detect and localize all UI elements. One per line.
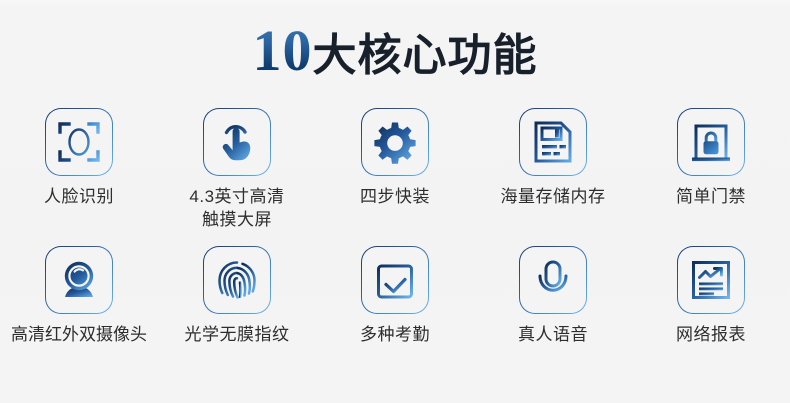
feature-item-access-control[interactable]: 简单门禁	[632, 108, 790, 209]
chart-report-icon	[688, 257, 734, 303]
feature-label: 网络报表	[676, 324, 746, 347]
fingerprint-icon	[214, 257, 260, 303]
feature-tile	[677, 246, 745, 314]
page-title-number: 10	[253, 18, 313, 83]
feature-label: 4.3英寸高清 触摸大屏	[189, 186, 284, 232]
webcam-camera-icon	[56, 257, 102, 303]
feature-tile	[361, 108, 429, 176]
feature-label: 简单门禁	[676, 186, 746, 209]
feature-row-2: 高清红外双摄像头	[0, 246, 790, 347]
feature-tile	[519, 108, 587, 176]
feature-item-report[interactable]: 网络报表	[632, 246, 790, 347]
feature-tile	[677, 108, 745, 176]
feature-highlights-page: 10大核心功能	[0, 0, 790, 403]
feature-item-face-recognition[interactable]: 人脸识别	[0, 108, 158, 209]
feature-tile	[203, 108, 271, 176]
feature-tile	[519, 246, 587, 314]
feature-tile	[361, 246, 429, 314]
feature-item-storage[interactable]: 海量存储内存	[474, 108, 632, 209]
calendar-check-icon	[372, 257, 418, 303]
feature-tile	[203, 246, 271, 314]
touch-hand-icon	[214, 119, 260, 165]
floppy-disk-storage-icon	[531, 119, 575, 165]
feature-row-1: 人脸识别	[0, 108, 790, 232]
feature-label: 海量存储内存	[501, 186, 606, 209]
gear-icon	[372, 119, 418, 165]
feature-item-touch-screen[interactable]: 4.3英寸高清 触摸大屏	[158, 108, 316, 232]
face-recognition-icon	[56, 119, 102, 165]
feature-tile	[45, 108, 113, 176]
microphone-icon	[530, 257, 576, 303]
door-lock-icon	[688, 119, 734, 165]
feature-item-fingerprint[interactable]: 光学无膜指纹	[158, 246, 316, 347]
feature-item-attendance[interactable]: 多种考勤	[316, 246, 474, 347]
feature-item-quick-install[interactable]: 四步快装	[316, 108, 474, 209]
feature-label: 多种考勤	[360, 324, 430, 347]
feature-grid: 人脸识别	[0, 108, 790, 347]
feature-label: 真人语音	[518, 324, 588, 347]
feature-label: 四步快装	[360, 186, 430, 209]
feature-item-camera[interactable]: 高清红外双摄像头	[0, 246, 158, 347]
feature-tile	[45, 246, 113, 314]
page-title-text: 大核心功能	[313, 31, 538, 80]
page-title: 10大核心功能	[0, 22, 790, 80]
feature-label: 高清红外双摄像头	[11, 324, 147, 347]
feature-label: 人脸识别	[44, 186, 114, 209]
feature-item-voice[interactable]: 真人语音	[474, 246, 632, 347]
feature-label: 光学无膜指纹	[185, 324, 290, 347]
